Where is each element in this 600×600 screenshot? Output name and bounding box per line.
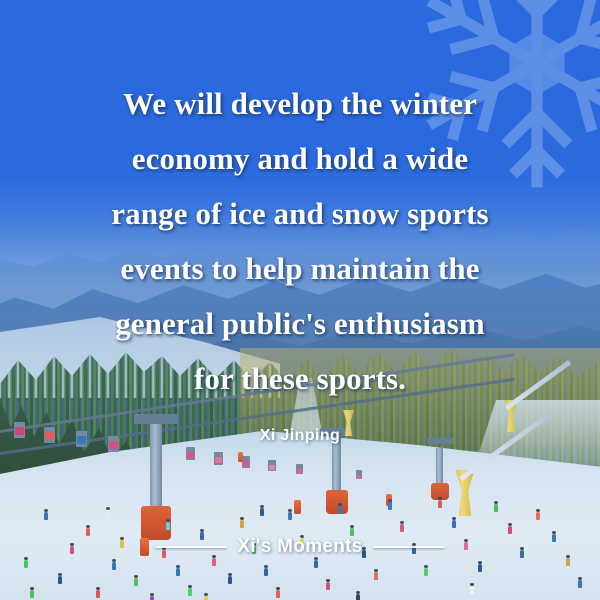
quote-line: economy and hold a wide [44,131,556,186]
quote-line: We will develop the winter [44,76,556,131]
watermark: Xi's Moments [0,536,600,558]
quote-line: events to help maintain the [44,241,556,296]
quote-line: general public's enthusiasm [44,296,556,351]
watermark-rule-left [155,546,227,548]
quote-author: Xi Jinping [0,427,600,445]
quote-line: for these sports. [44,351,556,406]
quote-card: We will develop the winter economy and h… [0,0,600,600]
quote-line: range of ice and snow sports [44,186,556,241]
watermark-label: Xi's Moments [237,536,362,558]
quote-text: We will develop the winter economy and h… [0,76,600,406]
watermark-rule-right [373,546,445,548]
